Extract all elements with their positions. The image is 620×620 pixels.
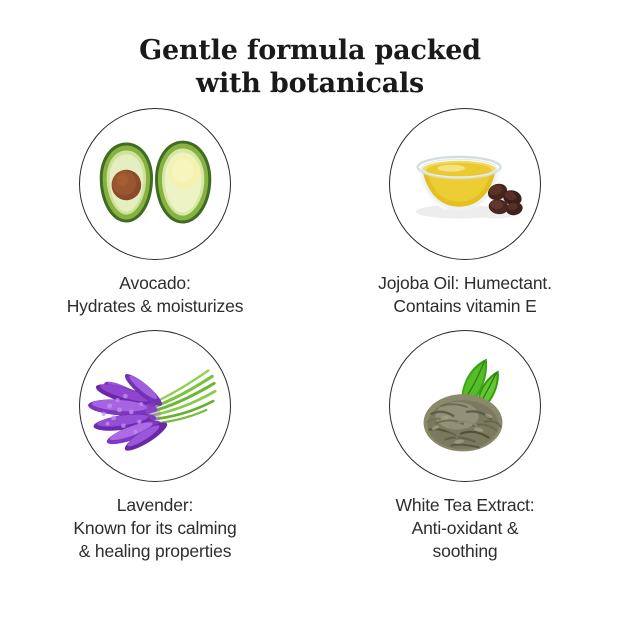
avocado-halves-icon xyxy=(80,109,230,259)
caption-line: Contains vitamin E xyxy=(310,295,620,318)
ingredient-caption-jojoba-oil: Jojoba Oil: Humectant. Contains vitamin … xyxy=(310,272,620,318)
ingredient-card-jojoba-oil: Jojoba Oil: Humectant. Contains vitamin … xyxy=(310,108,620,318)
page-title: Gentle formula packed with botanicals xyxy=(0,34,620,100)
avocado-image-circle xyxy=(79,108,231,260)
caption-line: Hydrates & moisturizes xyxy=(0,295,310,318)
white-tea-leaves-icon xyxy=(390,331,540,481)
jojoba-oil-image-circle xyxy=(389,108,541,260)
ingredient-card-white-tea-extract: White Tea Extract: Anti-oxidant & soothi… xyxy=(310,330,620,563)
caption-line: Anti-oxidant & xyxy=(310,517,620,540)
ingredient-caption-lavender: Lavender: Known for its calming & healin… xyxy=(0,494,310,563)
caption-line: Avocado: xyxy=(0,272,310,295)
page-title-line-1: Gentle formula packed xyxy=(0,34,620,67)
lavender-bouquet-icon xyxy=(80,331,230,481)
ingredient-card-lavender: Lavender: Known for its calming & healin… xyxy=(0,330,310,563)
lavender-image-circle xyxy=(79,330,231,482)
ingredient-caption-avocado: Avocado: Hydrates & moisturizes xyxy=(0,272,310,318)
white-tea-image-circle xyxy=(389,330,541,482)
jojoba-oil-bowl-icon xyxy=(390,109,540,259)
ingredient-card-avocado: Avocado: Hydrates & moisturizes xyxy=(0,108,310,318)
caption-line: Lavender: xyxy=(0,494,310,517)
caption-line: White Tea Extract: xyxy=(310,494,620,517)
ingredients-infographic: Gentle formula packed with botanicals xyxy=(0,0,620,620)
caption-line: & healing properties xyxy=(0,540,310,563)
page-title-line-2: with botanicals xyxy=(0,67,620,100)
caption-line: Known for its calming xyxy=(0,517,310,540)
ingredient-caption-white-tea-extract: White Tea Extract: Anti-oxidant & soothi… xyxy=(310,494,620,563)
caption-line: Jojoba Oil: Humectant. xyxy=(310,272,620,295)
caption-line: soothing xyxy=(310,540,620,563)
ingredient-grid: Avocado: Hydrates & moisturizes xyxy=(0,108,620,620)
